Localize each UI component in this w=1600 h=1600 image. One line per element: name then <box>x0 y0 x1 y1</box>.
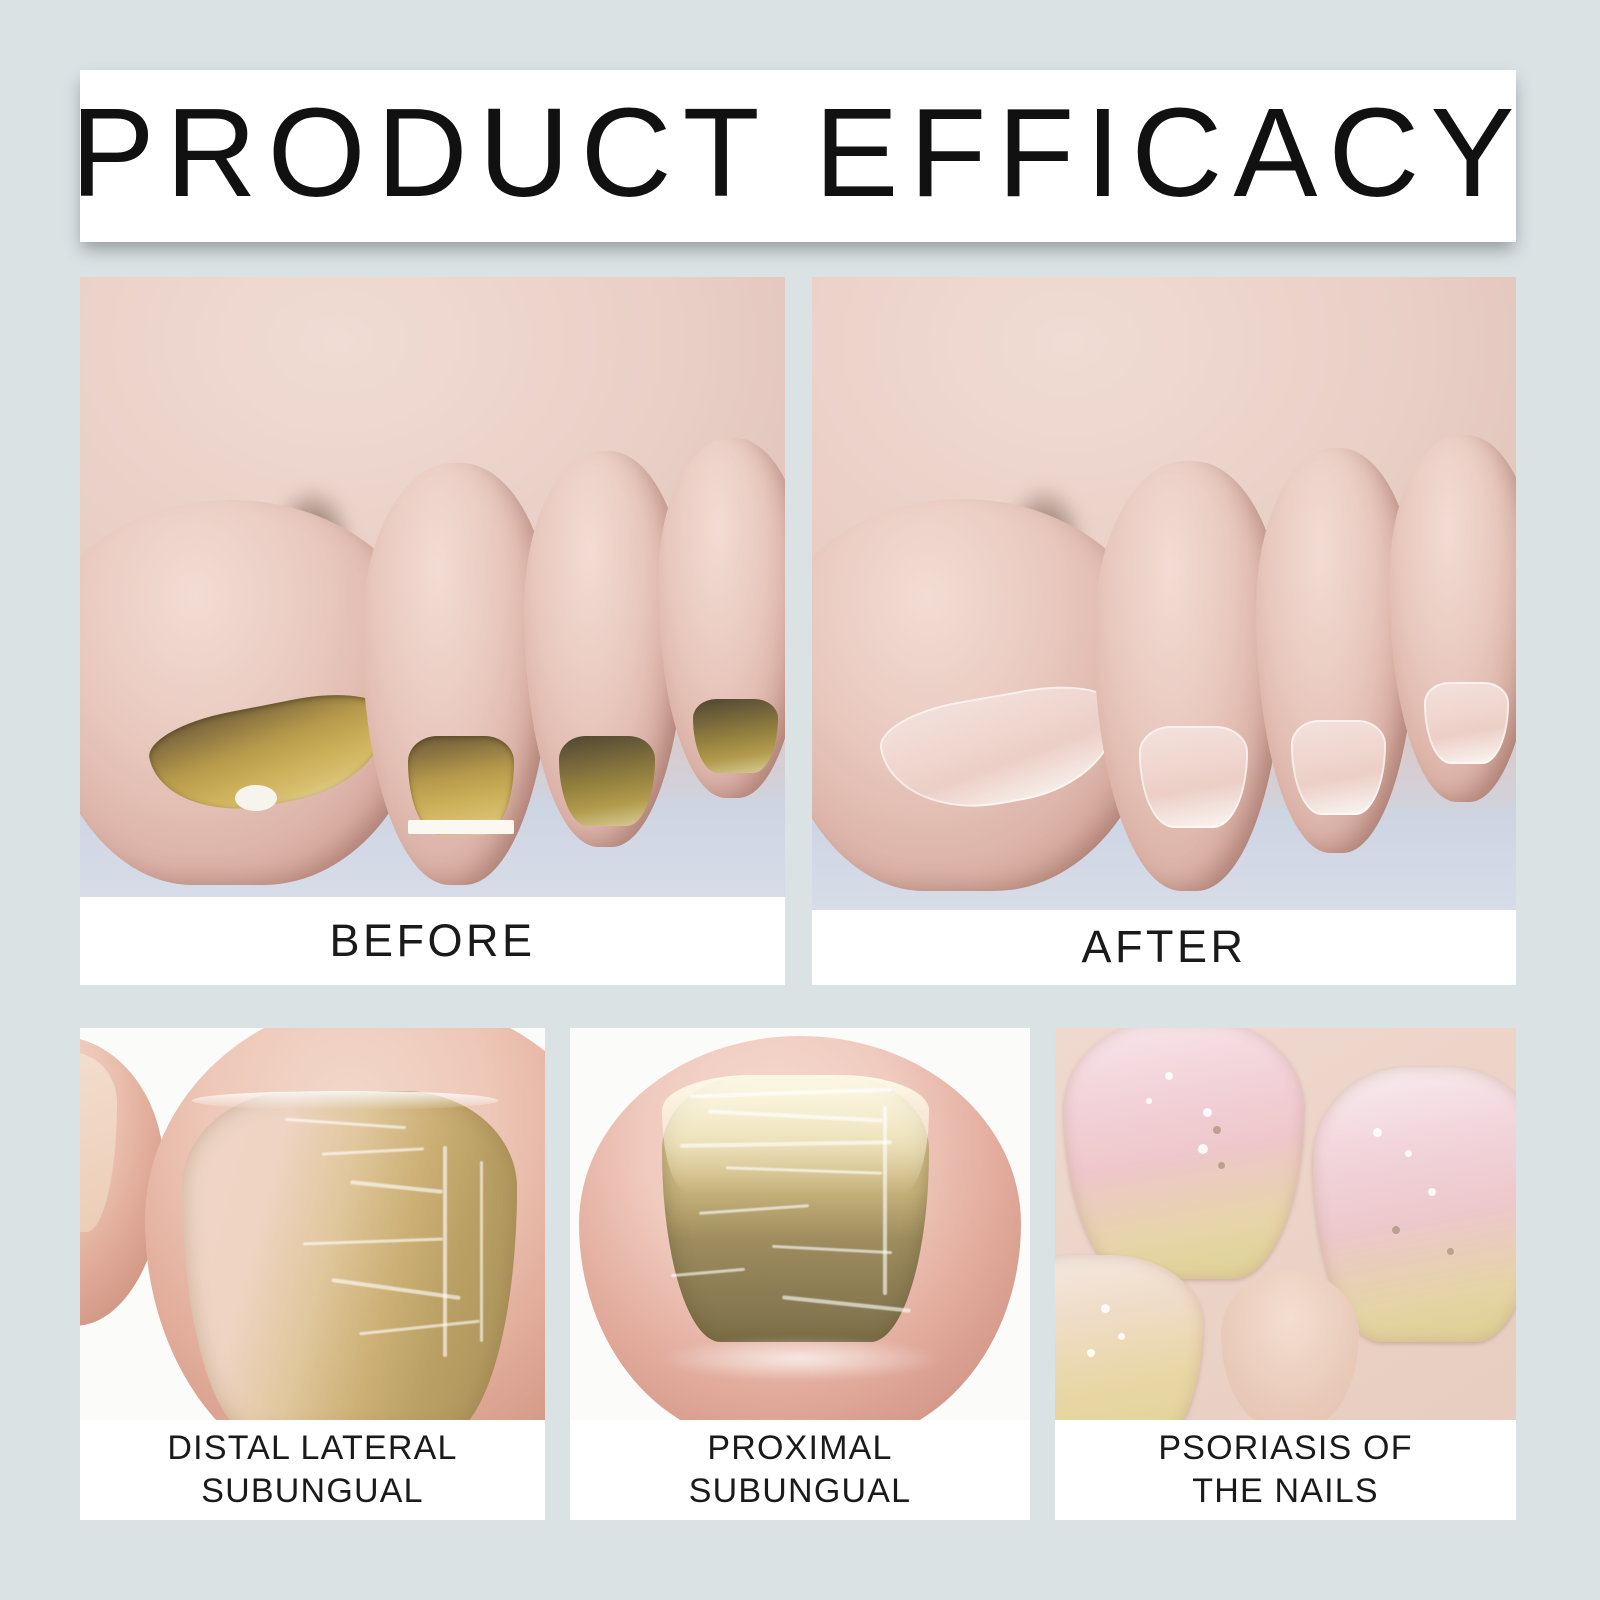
after-caption: AFTER <box>1081 922 1246 972</box>
condition-caption-line2: SUBUNGUAL <box>689 1470 911 1513</box>
after-caption-band: AFTER <box>812 910 1516 985</box>
before-photo <box>80 277 785 897</box>
condition-caption-line1: PROXIMAL <box>707 1427 892 1470</box>
condition-caption-line2: SUBUNGUAL <box>201 1470 423 1513</box>
condition-card-psoriasis: PSORIASIS OF THE NAILS <box>1055 1028 1516 1520</box>
after-card: AFTER <box>812 277 1516 985</box>
distal-lateral-subungual-photo <box>80 1028 545 1420</box>
condition-card-proximal-subungual: PROXIMAL SUBUNGUAL <box>570 1028 1030 1520</box>
page-title: PRODUCT EFFICACY <box>71 90 1526 216</box>
before-caption: BEFORE <box>329 916 535 966</box>
infographic-root: PRODUCT EFFICACY <box>0 0 1600 1600</box>
condition-card-distal-lateral-subungual: DISTAL LATERAL SUBUNGUAL <box>80 1028 545 1520</box>
before-card: BEFORE <box>80 277 785 985</box>
condition-caption-line2: THE NAILS <box>1192 1470 1379 1513</box>
before-caption-band: BEFORE <box>80 897 785 985</box>
page-title-card: PRODUCT EFFICACY <box>80 70 1516 242</box>
after-photo <box>812 277 1516 910</box>
proximal-subungual-photo <box>570 1028 1030 1420</box>
psoriasis-photo <box>1055 1028 1516 1420</box>
condition-caption-line1: PSORIASIS OF <box>1158 1427 1412 1470</box>
psoriasis-caption-band: PSORIASIS OF THE NAILS <box>1055 1420 1516 1520</box>
distal-lateral-subungual-caption-band: DISTAL LATERAL SUBUNGUAL <box>80 1420 545 1520</box>
proximal-subungual-caption-band: PROXIMAL SUBUNGUAL <box>570 1420 1030 1520</box>
condition-caption-line1: DISTAL LATERAL <box>167 1427 457 1470</box>
